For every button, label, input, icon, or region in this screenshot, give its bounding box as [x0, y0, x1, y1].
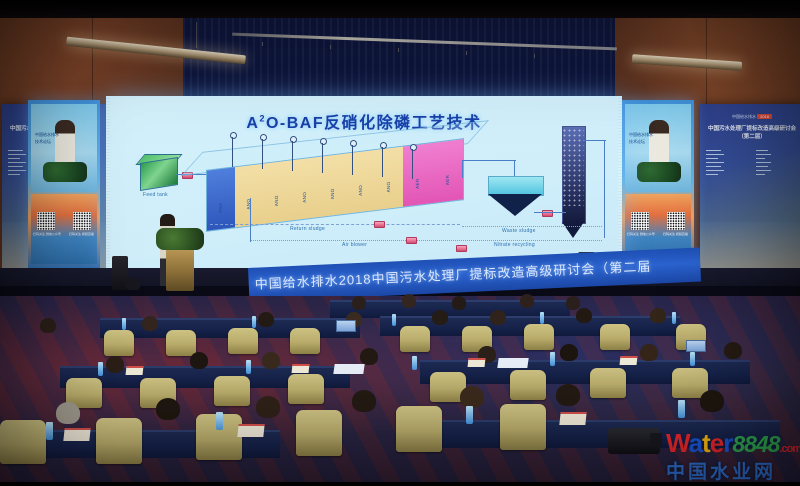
water-bottle [412, 356, 417, 370]
watermark-number: 8848 [732, 431, 779, 457]
audience-chair [96, 418, 142, 464]
pipe-to-clarifier [462, 160, 463, 178]
audience-chair [500, 404, 546, 450]
poster-headline: 中国污水处理厂提标改造高级研讨会（第二届） [703, 124, 800, 140]
light-hanger [663, 22, 664, 60]
audience-head [352, 296, 366, 310]
video-caption-line1: 中国给水排水 [35, 132, 59, 138]
audience-head [560, 344, 578, 361]
poster-year-badge: 2018 [757, 114, 772, 119]
zone-label: ANO [302, 191, 307, 203]
zone-anoxic: ANO [291, 157, 320, 221]
qr-panel: 扫码关注 微信公众号 扫码关注 视频直播 [31, 194, 97, 264]
audience-head [556, 384, 580, 406]
audience-head [56, 402, 80, 424]
audience-head [40, 318, 56, 333]
water-bottle [550, 352, 555, 366]
line-return-sludge [210, 224, 460, 225]
baf-media [562, 128, 584, 206]
stirrer-shaft [352, 145, 353, 175]
zone-label: ANO [274, 195, 279, 207]
speaker-silhouette [649, 120, 669, 168]
audience-head [700, 390, 724, 412]
speaker-silhouette [55, 120, 75, 168]
water-bottle [672, 312, 676, 324]
pipe-air-riser [250, 198, 251, 242]
pump-icon [406, 237, 417, 244]
zone-label: ANO [330, 188, 335, 200]
laptop[interactable] [686, 340, 706, 352]
watermark-wordmark: Water8848.com [666, 430, 800, 462]
water-bottle [540, 312, 544, 324]
video-caption-line1: 中国给水排水 [629, 132, 653, 138]
audience-head [724, 342, 742, 359]
stage-equipment-case [126, 278, 140, 290]
baf-cone [562, 222, 584, 238]
name-card [559, 412, 586, 425]
water-bottle [678, 400, 685, 418]
light-hanger [196, 22, 197, 48]
name-card [63, 428, 90, 441]
name-card [126, 366, 144, 375]
truss-drop [398, 48, 399, 52]
audience-head [490, 310, 506, 325]
watermark-letter-e: e [710, 428, 723, 458]
document-paper [333, 364, 364, 374]
watermark-letter-w: W [666, 428, 689, 458]
audience-chair [400, 326, 430, 352]
watermark-letter-a: a [689, 428, 702, 458]
live-video-feed: 中国给水排水 技术论坛 [625, 104, 691, 192]
watermark-chinese: 中国水业网 [666, 462, 800, 484]
zone-label: ANO [386, 181, 391, 193]
poster-board-right: 中国给水排水 2018 中国污水处理厂提标改造高级研讨会（第二届） ▬▬▬▬▬▬… [700, 104, 800, 274]
water-bottle [122, 318, 126, 330]
pipe-to-clarifier [514, 160, 515, 176]
pump-icon [456, 245, 467, 252]
audience-head [352, 390, 376, 412]
feed-tank-body [140, 157, 178, 191]
zone-aerobic: AER [403, 143, 434, 207]
stirrer-shaft [322, 143, 323, 173]
qr-caption: 扫码关注 微信公众号 [33, 232, 61, 236]
zone-aerobic: AER [433, 139, 463, 203]
audience-head [452, 296, 466, 310]
water-bottle [216, 412, 223, 430]
audience-head [142, 316, 158, 331]
label-feed-tank: Feed tank [143, 192, 168, 198]
qr-caption: 扫码关注 微信公众号 [627, 232, 655, 236]
zone-anoxic: ANO [263, 160, 292, 224]
zone-label: ANO [358, 185, 363, 197]
audience-chair [524, 324, 554, 350]
podium-flowers [637, 162, 681, 182]
watermark: Water8848.com 中国水业网 [666, 430, 800, 484]
pipe-baf-out [604, 140, 605, 238]
letterbox-bottom [0, 482, 800, 486]
podium-flowers [43, 162, 87, 182]
a2o-reactor: ANA ANO ANO ANO ANO ANO ANO AER AER [206, 136, 462, 214]
audience-chair [290, 328, 320, 354]
truss-drop [330, 45, 331, 49]
video-caption-line2: 技术论坛 [35, 139, 51, 145]
water-bottle [690, 352, 695, 366]
watermark-tld: .com [779, 443, 800, 455]
water-bottle [98, 362, 103, 376]
zone-label: AER [415, 178, 420, 189]
watermark-letter-r: r [723, 428, 732, 458]
screenshot-root: 中国给水排水 2018 中国污水处理厂提标改造高级研讨会（第二届） ▬▬▬▬▬▬… [0, 0, 800, 486]
audience-head [106, 356, 124, 373]
audience-head [520, 294, 534, 308]
water-bottle [392, 314, 396, 326]
laptop[interactable] [336, 320, 356, 332]
audience-chair [104, 330, 134, 356]
line-waste-sludge [462, 226, 602, 227]
audience-head [156, 398, 180, 420]
label-nitrate-recycling: Nitrate recycling [494, 242, 535, 248]
poster-kicker: 中国给水排水 2018 [700, 114, 800, 120]
label-air-blower: Air blower [342, 242, 367, 248]
truss-drop [262, 42, 263, 46]
audience-head [460, 386, 484, 408]
zone-label: ANA [218, 202, 223, 213]
pipe-clarifier-to-baf [534, 212, 566, 213]
audience-chair [288, 374, 324, 404]
camera-lens-icon [650, 433, 662, 447]
audience-head [402, 294, 416, 308]
audience-chair [214, 376, 250, 406]
live-video-feed: 中国给水排水 技术论坛 [31, 104, 97, 192]
pump-icon [374, 221, 385, 228]
stirrer-shaft [292, 141, 293, 171]
water-bottle [46, 422, 53, 440]
audience-head [640, 344, 658, 361]
audience-chair [166, 330, 196, 356]
audience-chair [510, 370, 546, 400]
audience-chair [228, 328, 258, 354]
water-bottle [252, 316, 256, 328]
truss-drop [466, 51, 467, 55]
name-card [292, 364, 310, 373]
qr-caption: 扫码关注 视频直播 [663, 232, 688, 236]
stirrer-shaft [412, 149, 413, 179]
qr-code-icon [631, 212, 649, 230]
poster-image [700, 222, 800, 274]
qr-caption: 扫码关注 视频直播 [69, 232, 94, 236]
label-waste-sludge: Waste sludge [502, 228, 536, 234]
zone-label: AER [445, 174, 450, 185]
secondary-clarifier [488, 176, 544, 196]
audience-chair [0, 420, 46, 464]
audience-head [256, 396, 280, 418]
qr-code-icon [37, 212, 55, 230]
stirrer-shaft [262, 139, 263, 169]
pipe-baf-out [584, 140, 606, 141]
water-bottle [246, 360, 251, 374]
video-caption-line2: 技术论坛 [629, 139, 645, 145]
watermark-letter-t: t [702, 428, 710, 458]
audience-head [360, 348, 378, 365]
audience-chair [600, 324, 630, 350]
audience-head [566, 296, 580, 310]
audience-chair [590, 368, 626, 398]
label-return-sludge: Return sludge [290, 226, 325, 232]
truss-drop [534, 54, 535, 58]
side-led-panel-left: 中国给水排水 技术论坛 扫码关注 微信公众号 扫码关注 视频直播 [28, 100, 100, 268]
stirrer-shaft [232, 137, 233, 167]
audience-head [262, 352, 280, 369]
water-bottle [466, 406, 473, 424]
stirrer-shaft [382, 147, 383, 177]
poster-text-block: ▬▬▬▬▬▬▬▬▬▬▬▬▬▬▬▬▬▬▬▬▬▬▬▬▬▬▬▬▬ [756, 148, 800, 176]
audience-head [576, 308, 592, 323]
qr-code-icon [667, 212, 685, 230]
document-paper [497, 358, 528, 368]
audience-head [258, 312, 274, 327]
name-card [468, 358, 486, 367]
audience-head [190, 352, 208, 369]
poster-text-block: ▬▬▬▬▬▬▬▬▬▬▬▬▬▬▬▬▬▬▬▬▬▬▬▬▬▬▬▬▬▬▬▬▬▬▬▬ [706, 148, 750, 176]
name-card [620, 356, 638, 365]
podium-flower-arrangement [156, 228, 204, 250]
zone-anoxic: ANO [375, 147, 404, 211]
audience-chair [396, 406, 442, 452]
audience-head [432, 310, 448, 325]
zone-anoxic: ANO [319, 153, 348, 217]
pipe-to-clarifier [462, 160, 516, 161]
line-nitrate-recycling [250, 240, 602, 241]
side-led-panel-right: 中国给水排水 技术论坛 扫码关注 微信公众号 扫码关注 视频直播 [622, 100, 694, 268]
zone-anaerobic: ANA [207, 167, 236, 231]
name-card [237, 424, 264, 437]
audience-chair [296, 410, 342, 456]
audience-head [650, 308, 666, 323]
qr-code-icon [73, 212, 91, 230]
poster-kicker-text: 中国给水排水 [732, 114, 756, 119]
